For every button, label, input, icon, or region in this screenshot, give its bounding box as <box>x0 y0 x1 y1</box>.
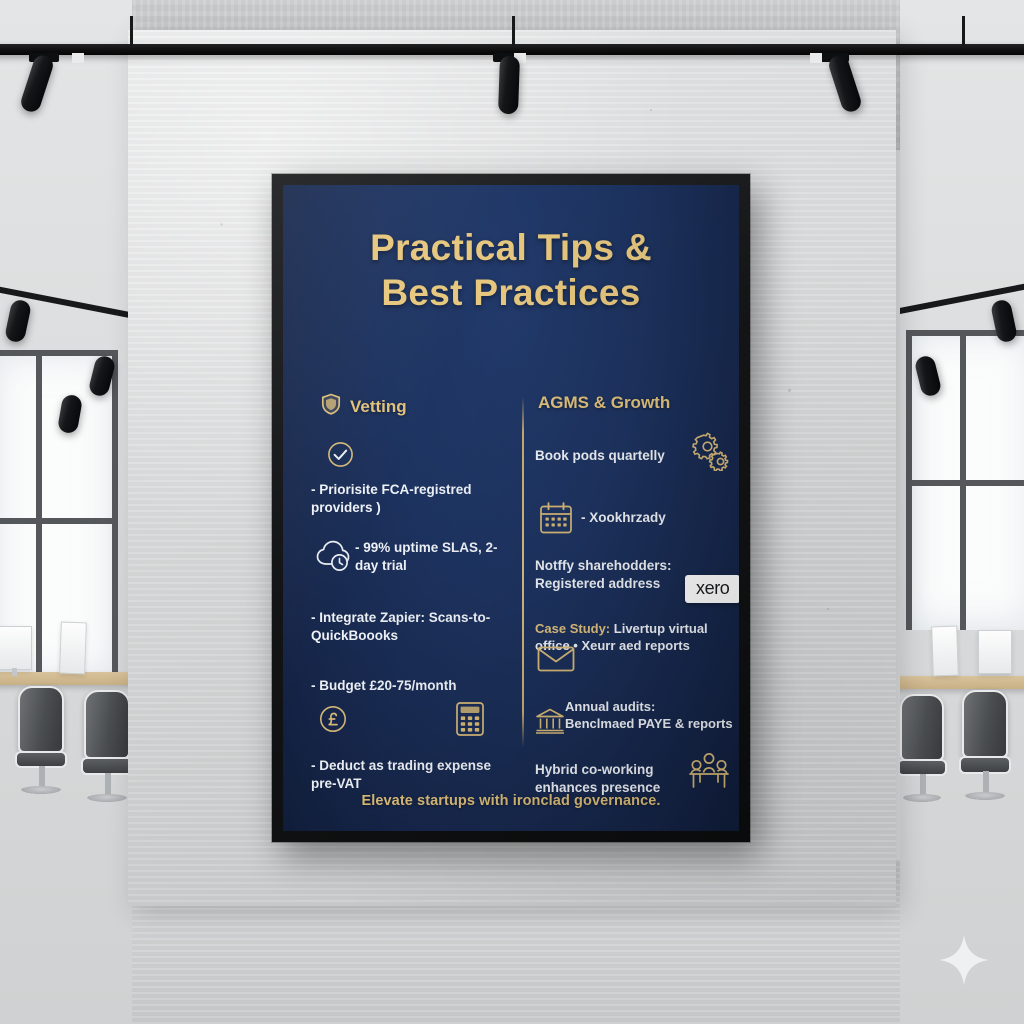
monitor-right-a <box>978 630 1012 674</box>
chair-left-a <box>18 686 64 794</box>
desk-right <box>900 676 1024 689</box>
xero-badge: xero <box>685 575 739 603</box>
chair-right-a <box>962 690 1008 800</box>
list-item: Hybrid co-working enhances presence <box>535 761 683 796</box>
bank-icon <box>535 707 565 740</box>
spot-light-2 <box>500 56 520 114</box>
chair-left-b <box>84 690 130 802</box>
desk-left <box>0 672 132 685</box>
list-item: - Deduct as trading expense pre-VAT <box>311 757 517 792</box>
calendar-icon <box>539 501 573 540</box>
office-poster-scene: Practical Tips & Best Practices Vet <box>0 0 1024 1024</box>
spot-light-right-a <box>994 300 1014 342</box>
rail-drop-1 <box>130 16 133 46</box>
spot-light-left-b <box>92 356 112 396</box>
list-item-text: Registered address <box>535 576 660 591</box>
office-left-wing <box>0 0 132 1024</box>
spot-light-right-b <box>918 356 938 396</box>
spot-light-1 <box>36 56 56 114</box>
column-divider <box>522 397 524 747</box>
spot-light-left-c <box>60 395 80 433</box>
poster-frame: Practical Tips & Best Practices Vet <box>272 174 750 842</box>
shield-icon <box>321 393 341 420</box>
list-item: Book pods quartelly <box>535 447 685 465</box>
envelope-icon <box>537 645 575 678</box>
meeting-people-icon <box>687 751 731 796</box>
list-item: - Budget £20-75/month <box>311 677 517 695</box>
rail-drop-2 <box>512 16 515 46</box>
list-item: - Xookhrzady <box>581 509 731 527</box>
column-vetting: Vetting - Priorisite FCA-registred provi… <box>307 369 517 773</box>
sparkle-watermark <box>936 932 992 988</box>
column-agms-growth: AGMS & Growth Book pods quartelly <box>535 369 739 773</box>
list-item-text: Benclmaed PAYE & reports <box>565 716 733 731</box>
spot-light-3 <box>826 56 846 114</box>
title-line-1: Practical Tips & <box>283 225 739 270</box>
list-item: - Priorisite FCA-registred providers ) <box>311 481 515 516</box>
poster-columns: Vetting - Priorisite FCA-registred provi… <box>283 369 739 773</box>
gears-icon <box>687 431 729 476</box>
title-line-2: Best Practices <box>283 270 739 315</box>
section-heading-vetting-label: Vetting <box>350 397 407 417</box>
list-item-label: Notffy sharehodders: <box>535 558 672 573</box>
poster-canvas: Practical Tips & Best Practices Vet <box>283 185 739 831</box>
list-item: - 99% uptime SLAS, 2-day trial <box>355 539 517 574</box>
list-item: Annual audits: Benclmaed PAYE & reports <box>565 699 739 733</box>
section-heading-agms: AGMS & Growth <box>537 393 670 413</box>
spot-light-left-a <box>8 300 28 342</box>
rail-drop-3 <box>962 16 965 46</box>
office-right-wing <box>900 0 1024 1024</box>
monitor-left-b <box>59 622 87 675</box>
list-item-label: Annual audits: <box>565 699 655 714</box>
section-heading-agms-label: AGMS & Growth <box>538 393 670 413</box>
list-item: - Integrate Zapier: Scans-to-QuickBoooks <box>311 609 517 644</box>
list-item-label: Case Study: <box>535 621 610 636</box>
monitor-right-b <box>931 626 959 677</box>
check-circle-icon <box>327 441 354 473</box>
page-title: Practical Tips & Best Practices <box>283 225 739 315</box>
monitor-left-a <box>0 626 32 670</box>
poster-footer: Elevate startups with ironclad governanc… <box>283 793 739 809</box>
cloud-clock-icon <box>315 537 359 578</box>
calculator-icon <box>455 701 485 742</box>
chair-right-b <box>900 694 944 802</box>
section-heading-vetting: Vetting <box>321 393 407 420</box>
pound-coin-icon <box>319 705 347 738</box>
